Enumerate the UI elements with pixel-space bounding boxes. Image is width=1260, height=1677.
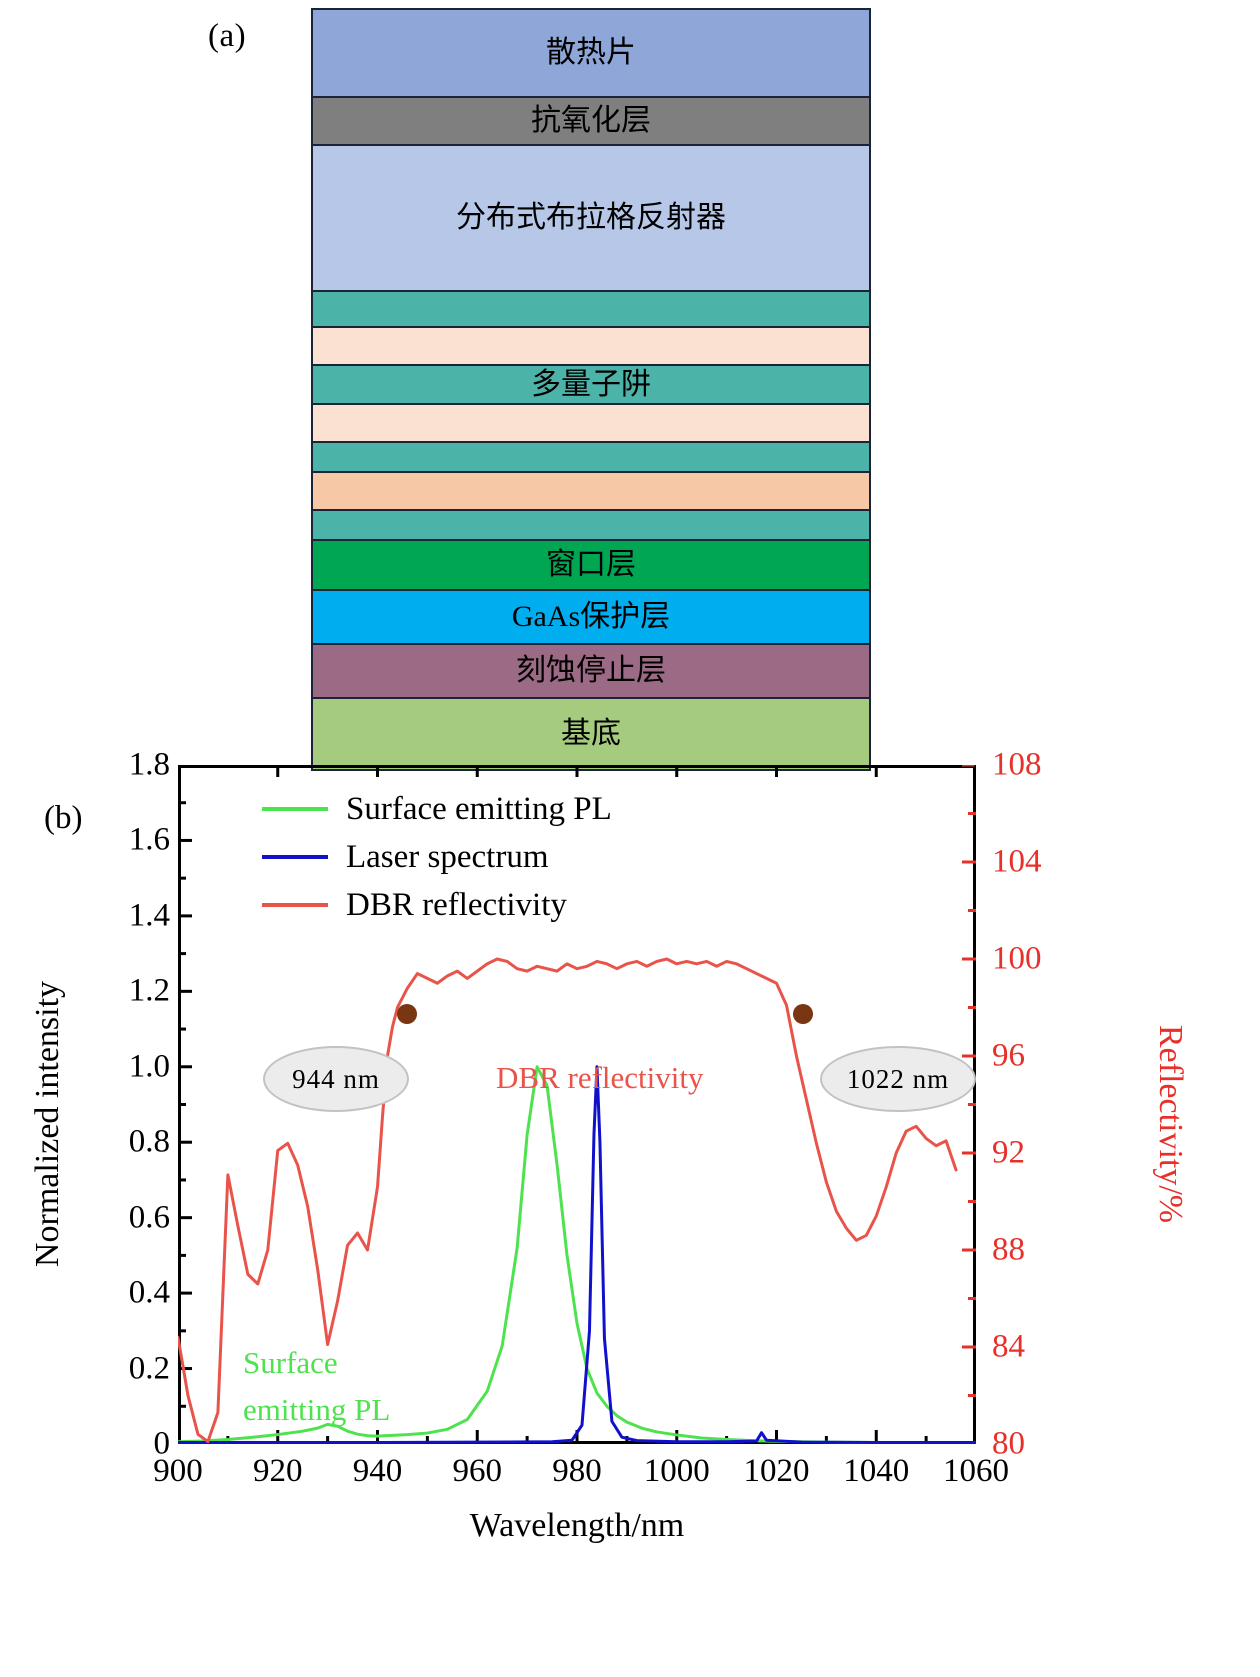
- layer-label-anti-oxidation-layer: 抗氧化层: [531, 106, 651, 136]
- layer-label-heat-sink: 散热片: [546, 38, 636, 68]
- y-left-tick-1: 1.0: [50, 1048, 170, 1085]
- layer-label-mqw-barrier-2: 多量子阱: [531, 370, 651, 400]
- legend-item-1: Laser spectrum: [262, 833, 782, 881]
- layer-etch-stop-layer: 刻蚀停止层: [313, 645, 869, 699]
- panel-a-label: (a): [208, 18, 246, 55]
- legend-label-1: Laser spectrum: [346, 839, 549, 876]
- legend-label-0: Surface emitting PL: [346, 791, 612, 828]
- x-axis-title: Wavelength/nm: [178, 1507, 976, 1545]
- layer-mqw-barrier-3: [313, 443, 869, 473]
- left-band-edge-marker-icon: [397, 1004, 417, 1024]
- layer-label-window-layer: 窗口层: [546, 550, 636, 580]
- layer-label-gaas-protection: GaAs保护层: [512, 602, 670, 632]
- y-left-tick-1.2: 1.2: [50, 973, 170, 1010]
- layer-label-dbr: 分布式布拉格反射器: [456, 203, 726, 233]
- layer-mqw-barrier-2: 多量子阱: [313, 366, 869, 405]
- legend-item-2: DBR reflectivity: [262, 881, 782, 929]
- x-axis-ticklabels: 9009209409609801000102010401060: [0, 1453, 1260, 1503]
- legend-swatch-icon-0: [262, 807, 328, 811]
- y-left-tick-0.2: 0.2: [50, 1350, 170, 1387]
- panel-b-spectra-chart: (b) Normalized intensity Reflectivity/% …: [0, 745, 1260, 1677]
- layer-label-etch-stop-layer: 刻蚀停止层: [516, 656, 666, 686]
- surface-pl-annotation-line2: emitting PL: [243, 1392, 390, 1428]
- dbr-reflectivity-annotation: DBR reflectivity: [496, 1060, 703, 1096]
- y-right-tick-84: 84: [992, 1329, 1112, 1366]
- band-edge-left-bubble: 944 nm: [263, 1046, 409, 1112]
- layer-gaas-protection: GaAs保护层: [313, 591, 869, 645]
- y-left-tick-0.6: 0.6: [50, 1199, 170, 1236]
- layer-mqw-barrier-1: [313, 292, 869, 328]
- legend-label-2: DBR reflectivity: [346, 887, 567, 924]
- y-left-tick-1.8: 1.8: [50, 747, 170, 784]
- y-left-tick-0.4: 0.4: [50, 1275, 170, 1312]
- layer-mqw-well-3: [313, 473, 869, 511]
- layer-mqw-well-1: [313, 328, 869, 366]
- y-axis-right-ticklabels: 8084889296100104108: [992, 745, 1122, 1465]
- layer-heat-sink: 散热片: [313, 10, 869, 98]
- legend-swatch-icon-2: [262, 903, 328, 907]
- right-band-edge-marker-icon: [793, 1004, 813, 1024]
- layer-window-layer: 窗口层: [313, 541, 869, 591]
- y-left-tick-0.8: 0.8: [50, 1124, 170, 1161]
- layer-anti-oxidation-layer: 抗氧化层: [313, 98, 869, 146]
- layer-mqw-well-2: [313, 405, 869, 443]
- chart-legend: Surface emitting PLLaser spectrumDBR ref…: [262, 785, 782, 929]
- y-right-tick-96: 96: [992, 1038, 1112, 1075]
- x-tick-1060: 1060: [916, 1453, 1036, 1490]
- panel-a-layer-stack-diagram: (a) 散热片抗氧化层分布式布拉格反射器多量子阱窗口层GaAs保护层刻蚀停止层基…: [0, 0, 1260, 745]
- legend-item-0: Surface emitting PL: [262, 785, 782, 833]
- legend-swatch-icon-1: [262, 855, 328, 859]
- y-axis-right-title: Reflectivity/%: [1151, 874, 1189, 1374]
- band-edge-right-bubble: 1022 nm: [820, 1046, 976, 1112]
- surface-pl-annotation-line1: Surface: [243, 1345, 338, 1381]
- series-line-laser-spectrum: [178, 1067, 976, 1443]
- layer-mqw-barrier-4: [313, 511, 869, 541]
- series-line-surface-emitting-pl: [178, 1067, 976, 1443]
- y-left-tick-1.4: 1.4: [50, 897, 170, 934]
- y-right-tick-104: 104: [992, 844, 1112, 881]
- y-right-tick-88: 88: [992, 1232, 1112, 1269]
- y-right-tick-108: 108: [992, 747, 1112, 784]
- y-axis-left-ticklabels: 00.20.40.60.81.01.21.41.61.8: [30, 745, 170, 1465]
- y-right-tick-92: 92: [992, 1135, 1112, 1172]
- y-left-tick-1.6: 1.6: [50, 822, 170, 859]
- y-right-tick-100: 100: [992, 941, 1112, 978]
- epitaxial-layer-stack: 散热片抗氧化层分布式布拉格反射器多量子阱窗口层GaAs保护层刻蚀停止层基底: [311, 8, 871, 771]
- layer-dbr: 分布式布拉格反射器: [313, 146, 869, 292]
